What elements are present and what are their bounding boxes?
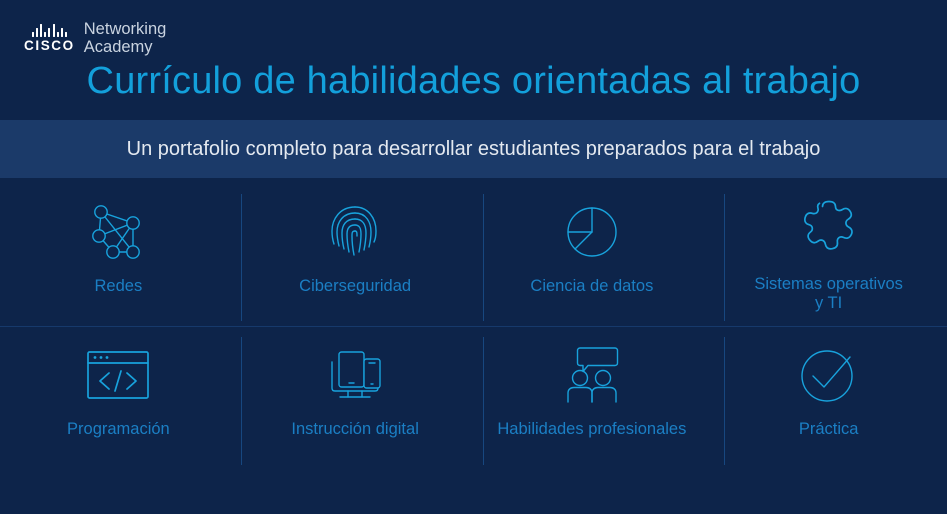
people-chat-icon	[558, 339, 626, 411]
category-label: Programación	[67, 420, 170, 439]
page-title: Currículo de habilidades orientadas al t…	[0, 60, 947, 103]
category-label: Redes	[95, 277, 143, 296]
devices-icon	[318, 339, 392, 411]
logo-line-networking: Networking	[84, 20, 167, 38]
category-card-practica[interactable]: Práctica	[710, 325, 947, 468]
category-card-habilidades-profesionales[interactable]: Habilidades profesionales	[474, 325, 711, 468]
category-label: Habilidades profesionales	[497, 420, 686, 439]
cisco-networking-academy-logo: CISCO Networking Academy	[24, 20, 166, 57]
category-card-programacion[interactable]: Programación	[0, 325, 237, 468]
category-card-instruccion-digital[interactable]: Instrucción digital	[237, 325, 474, 468]
check-circle-icon	[796, 339, 862, 411]
logo-line-academy: Academy	[84, 38, 167, 56]
category-label: Ciencia de datos	[530, 277, 653, 296]
subtitle-band: Un portafolio completo para desarrollar …	[0, 120, 947, 178]
gear-icon	[796, 196, 862, 268]
category-card-ciberseguridad[interactable]: Ciberseguridad	[237, 182, 474, 325]
category-card-ciencia-de-datos[interactable]: Ciencia de datos	[474, 182, 711, 325]
category-label: Práctica	[799, 420, 859, 439]
category-card-sistemas-operativos[interactable]: Sistemas operativos y TI	[710, 182, 947, 325]
pie-chart-icon	[561, 196, 623, 268]
subtitle-text: Un portafolio completo para desarrollar …	[127, 138, 821, 161]
network-graph-icon	[87, 196, 149, 268]
fingerprint-icon	[326, 196, 384, 268]
header: CISCO Networking Academy Currículo de ha…	[0, 0, 947, 120]
category-card-redes[interactable]: Redes	[0, 182, 237, 325]
cisco-bars-icon	[32, 24, 68, 37]
category-label: Sistemas operativos y TI	[754, 275, 903, 314]
slide-canvas: CISCO Networking Academy Currículo de ha…	[0, 0, 947, 514]
code-window-icon	[82, 339, 154, 411]
category-grid: Redes	[0, 178, 947, 514]
category-label: Ciberseguridad	[299, 277, 411, 296]
grid-row-1: Redes	[0, 182, 947, 325]
cisco-wordmark: CISCO	[24, 39, 75, 53]
category-label: Instrucción digital	[291, 420, 418, 439]
grid-row-2: Programación	[0, 325, 947, 468]
logo-text-block: Networking Academy	[84, 20, 167, 57]
cisco-logo-icon: CISCO	[24, 24, 75, 53]
